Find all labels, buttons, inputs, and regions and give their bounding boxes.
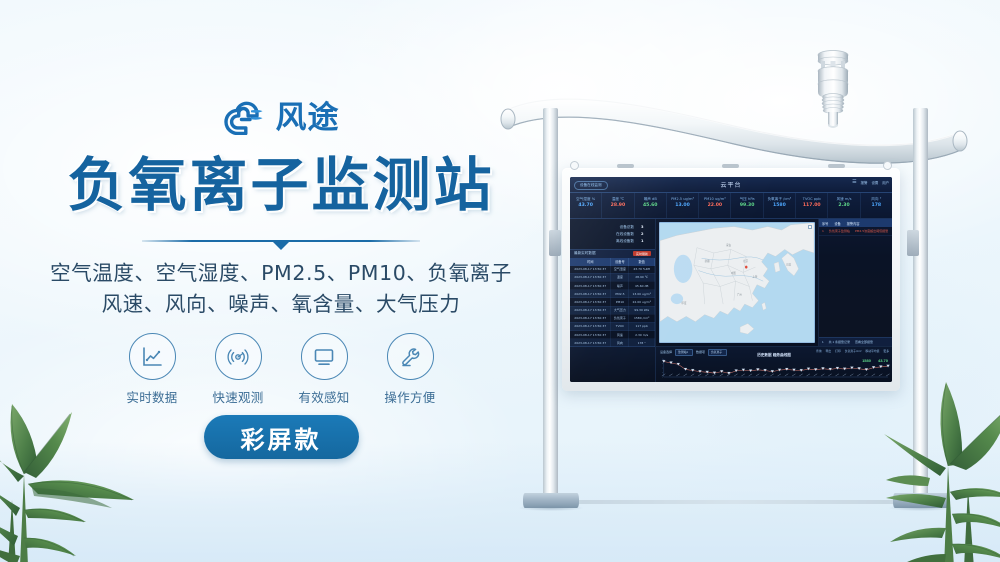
feature-label: 快速观测 [207,387,269,406]
display-panel: 设备在线监测 云平台 ☰ 报警 设置 用户 空气湿度 % 43.70 [562,168,900,391]
stat-label: 设备总数 [620,224,634,231]
stat-value: 1 [641,238,649,245]
stat-value: 3 [641,224,649,231]
mount-ring-left [570,161,579,170]
svg-text:北京: 北京 [743,259,748,263]
table-row[interactable]: 2023-08-17 13:50:37 TVOC 117 ppb [570,322,655,330]
table-row[interactable]: 2023-08-17 13:50:37 大气压力 99.30 kPa [570,306,655,314]
cell-value: 2.30 m/s [629,331,655,339]
metric-value: 28.90 [602,202,633,211]
metric-card: 空气湿度 % 43.70 [570,193,602,218]
svg-text:广州: 广州 [737,292,742,296]
base-plate-right [893,493,949,508]
cell-device: PM2.5 [611,290,629,298]
cell-value: 22.00 ug/m³ [629,298,655,306]
cell-device: PM10 [611,298,629,306]
stat-row: 设备总数 3 [576,224,649,231]
alert-header: 序号 设备 报警内容 [819,219,892,227]
chart-line-graph [658,357,890,381]
hero-banner: 风途 负氧离子监测站 空气温度、空气湿度、PM2.5、PM10、负氧离子 风速、… [0,0,1000,562]
mount-ring-right [883,161,892,170]
alert-index: 1 [822,229,824,233]
subtitle-line-2: 风速、风向、噪声、氧含量、大气压力 [22,289,540,320]
alert-device: 负氧离子监测站 [829,229,850,233]
alert-col-device: 设备 [834,221,840,226]
cell-device: 负氧离子 [611,314,629,322]
cell-time: 2023-08-17 13:50:37 [570,339,611,347]
cell-value: 43.70 %RH [629,266,655,274]
svg-text:新疆: 新疆 [705,259,710,263]
cell-value: 178 ° [629,339,655,347]
cell-value: 28.90 ℃ [629,273,655,281]
refresh-button[interactable]: 实时刷新 [633,251,651,256]
dashboard-toolbar: ☰ 报警 设置 用户 [852,179,889,185]
metric-value: 178 [861,202,892,211]
chart-side-spacer [570,347,656,382]
menu-icon[interactable]: ☰ [852,179,856,185]
metric-value: 22.00 [699,202,730,211]
divider-triangle-icon [272,241,290,250]
cell-time: 2023-08-17 13:50:37 [570,281,611,289]
feature-easy-operation[interactable]: 操作方便 [379,333,441,406]
cell-device: 风向 [611,339,629,347]
mount-tab-3 [828,164,845,168]
ground-line [535,500,935,504]
cell-time: 2023-08-17 13:50:37 [570,322,611,330]
svg-text:印度: 印度 [682,301,687,305]
feature-fast-observation[interactable]: 快速观测 [207,333,269,406]
metric-value: 1580 [764,202,795,211]
stat-row: 在线设备数 2 [576,231,649,238]
monitor-screen-icon [312,345,336,369]
history-chart[interactable]: 设备选择 监测站1 数据项 负氧离子 查询 导出 打印 负氧离子/cm³ 移动平… [656,347,892,382]
cell-value: 117 ppb [629,322,655,330]
title-divider [0,237,540,251]
cell-time: 2023-08-17 13:50:37 [570,298,611,306]
cell-device: 空气湿度 [611,266,629,274]
feature-icon-circle [215,333,262,380]
feature-label: 有效感知 [293,387,355,406]
metric-value: 13.00 [667,202,698,211]
color-screen-button[interactable]: 彩屏款 [204,415,359,459]
alert-footer-index: 1 [822,340,824,344]
table-header-bar: 最新实时数据 实时刷新 [570,249,655,258]
brand-name: 风途 [276,103,340,134]
map-zoom-control[interactable] [808,225,812,229]
panel-bracket-right [907,230,919,256]
feature-label: 操作方便 [379,387,441,406]
stat-row: 离线设备数 1 [576,238,649,245]
device-stats: 设备总数 3 在线设备数 2 离线设备数 1 [570,219,655,249]
alert-col-content: 报警内容 [847,221,860,226]
metric-card: 风向 ° 178 [861,193,892,218]
cell-device: 噪声 [611,281,629,289]
table-row[interactable]: 2023-08-17 13:50:37 空气湿度 43.70 %RH [570,266,655,274]
metric-card: 风速 m/s 2.30 [828,193,860,218]
cloud-g-logo-icon [223,101,267,135]
svg-text:日本: 日本 [786,262,791,266]
metric-card: 负氧离子 /cm³ 1580 [764,193,796,218]
support-post-left [543,108,558,500]
dashboard-alert-column: 序号 设备 报警内容 1 负氧离子监测站 PM2.5浓度超出阈值报警 1 [818,219,892,346]
cell-device: 大气压力 [611,306,629,314]
table-title: 最新实时数据 [574,251,596,256]
cell-device: 风速 [611,331,629,339]
cell-time: 2023-08-17 13:50:37 [570,290,611,298]
table-header-row: 时间 设备号 数值 [570,258,655,266]
base-plate-left [523,493,579,508]
column-header: 设备号 [611,258,629,266]
column-header: 数值 [629,258,655,266]
table-row[interactable]: 2023-08-17 13:50:37 风向 178 ° [570,339,655,347]
table-row[interactable]: 2023-08-17 13:50:37 温度 28.90 ℃ [570,273,655,281]
feature-icon-circle [301,333,348,380]
metric-value: 45.60 [635,202,666,211]
map-graphic: 蒙古 中国 新疆 北京 上海 广州 日本 印度 [660,223,814,342]
cell-time: 2023-08-17 13:50:37 [570,306,611,314]
cell-time: 2023-08-17 13:50:37 [570,331,611,339]
metric-card: PM2.5 ug/m³ 13.00 [667,193,699,218]
hero-subtitle: 空气温度、空气湿度、PM2.5、PM10、负氧离子 风速、风向、噪声、氧含量、大… [0,258,540,320]
metric-card: PM10 ug/m³ 22.00 [699,193,731,218]
cell-value: 13.00 ug/m³ [629,290,655,298]
metric-card: 噪声 dB 45.60 [635,193,667,218]
table-row[interactable]: 2023-08-17 13:50:37 风速 2.30 m/s [570,331,655,339]
alert-row[interactable]: 1 负氧离子监测站 PM2.5浓度超出阈值报警 [819,227,892,236]
mount-tab-2 [722,164,739,168]
table-row[interactable]: 2023-08-17 13:50:37 噪声 45.60 dB [570,281,655,289]
cell-device: TVOC [611,322,629,330]
stat-label: 在线设备数 [616,231,634,238]
svg-text:上海: 上海 [752,274,757,278]
hero-text-panel: 风途 负氧离子监测站 空气温度、空气湿度、PM2.5、PM10、负氧离子 风速、… [0,0,540,562]
cell-time: 2023-08-17 13:50:37 [570,266,611,274]
chart-plot [658,357,890,381]
feature-icon-circle [387,333,434,380]
china-map[interactable]: 蒙古 中国 新疆 北京 上海 广州 日本 印度 [659,222,815,343]
monitoring-station: 设备在线监测 云平台 ☰ 报警 设置 用户 空气湿度 % 43.70 [505,0,975,562]
subtitle-line-1: 空气温度、空气湿度、PM2.5、PM10、负氧离子 [50,261,512,285]
feature-realtime-data[interactable]: 实时数据 [121,333,183,406]
alert-view-all[interactable]: 查看全部报警 [855,340,873,344]
alert-footer: 1 共 1 条报警记录 查看全部报警 [819,337,892,346]
dashboard-map-column: 蒙古 中国 新疆 北京 上海 广州 日本 印度 [656,219,818,346]
feature-label: 实时数据 [121,387,183,406]
toolbar-item-1[interactable]: 报警 [861,180,868,185]
panel-bracket-left [549,230,561,256]
alert-col-index: 序号 [822,221,828,226]
chart-strip: 设备选择 监测站1 数据项 负氧离子 查询 导出 打印 负氧离子/cm³ 移动平… [570,346,892,382]
page-title: 负氧离子监测站 [0,151,540,219]
metric-label: PM2.5 ug/m³ [667,197,698,202]
stat-label: 离线设备数 [616,238,634,245]
cell-device: 温度 [611,273,629,281]
curved-canopy [499,88,969,168]
table-row[interactable]: 2023-08-17 13:50:37 PM2.5 13.00 ug/m³ [570,290,655,298]
wrench-icon [398,345,422,369]
cell-value: 99.30 kPa [629,306,655,314]
alert-footer-count: 共 1 条报警记录 [829,340,850,344]
metric-card: TVOC ppb 117.00 [796,193,828,218]
metric-value: 2.30 [828,202,859,211]
panel-mounting-hardware [562,161,900,171]
metric-card: 温度 ℃ 28.90 [602,193,634,218]
brand-logo: 风途 [0,101,540,135]
cell-time: 2023-08-17 13:50:37 [570,273,611,281]
cell-value: 1580 /cm³ [629,314,655,322]
table-row[interactable]: 2023-08-17 13:50:37 负氧离子 1580 /cm³ [570,314,655,322]
alert-empty-area [819,236,892,337]
column-header: 时间 [570,258,611,266]
cell-value: 45.60 dB [629,281,655,289]
feature-icon-circle [129,333,176,380]
feature-effective-sensing[interactable]: 有效感知 [293,333,355,406]
metric-value: 43.70 [570,202,601,211]
realtime-data-table: 时间 设备号 数值 2023-08-17 13:50:37 空气湿度 43.70… [570,258,655,348]
metric-label: PM10 ug/m³ [699,197,730,202]
alert-content: PM2.5浓度超出阈值报警 [855,229,888,233]
table-row[interactable]: 2023-08-17 13:50:37 PM10 22.00 ug/m³ [570,298,655,306]
toolbar-item-2[interactable]: 设置 [871,180,878,185]
toolbar-item-3[interactable]: 用户 [882,180,889,185]
metric-card: 气压 hPa 99.30 [731,193,763,218]
dashboard-title: 云平台 [570,180,892,189]
dashboard-header: 设备在线监测 云平台 ☰ 报警 设置 用户 [570,177,892,193]
metric-label: 负氧离子 /cm³ [764,197,795,202]
ultrasonic-weather-sensor [805,48,861,130]
dashboard-body: 设备总数 3 在线设备数 2 离线设备数 1 [570,219,892,346]
support-post-right [913,108,928,500]
stat-value: 2 [641,231,649,238]
metric-strip: 空气湿度 % 43.70 温度 ℃ 28.90 噪声 dB 45.60 PM2.… [570,193,892,219]
dashboard-screen[interactable]: 设备在线监测 云平台 ☰ 报警 设置 用户 空气湿度 % 43.70 [570,177,892,382]
radar-signal-icon [226,345,250,369]
dashboard-left-column: 设备总数 3 在线设备数 2 离线设备数 1 [570,219,656,346]
metric-value: 117.00 [796,202,827,211]
svg-text:中国: 中国 [731,271,736,275]
metric-value: 99.30 [731,202,762,211]
mount-tab-1 [617,164,634,168]
cta-container: 彩屏款 [0,415,540,459]
line-chart-icon [140,345,164,369]
svg-text:蒙古: 蒙古 [726,243,731,247]
cell-time: 2023-08-17 13:50:37 [570,314,611,322]
feature-list: 实时数据 快速观测 [0,333,540,406]
